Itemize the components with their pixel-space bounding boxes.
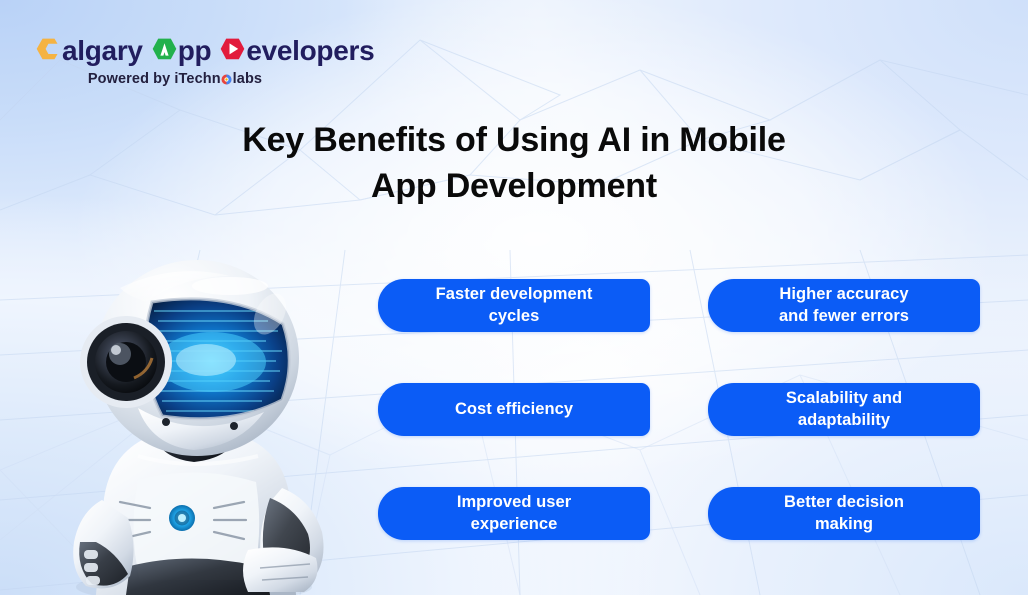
benefit-label-line-1: Higher accuracy — [779, 285, 908, 303]
robot-right-hand — [243, 547, 318, 592]
robot-lens-housing — [80, 316, 172, 408]
benefit-chip-higher-accuracy-fewer-errors[interactable]: Higher accuracy and fewer errors — [708, 279, 980, 332]
benefit-chip-better-decision-making[interactable]: Better decision making — [708, 487, 980, 540]
benefit-chip-scalability-adaptability[interactable]: Scalability and adaptability — [708, 383, 980, 436]
benefit-chip-faster-development-cycles[interactable]: Faster development cycles — [378, 279, 650, 332]
benefit-label: Higher accuracy and fewer errors — [779, 284, 909, 327]
hex-c-icon — [36, 36, 61, 65]
benefit-label-line-2: making — [815, 515, 873, 533]
benefits-grid: Faster development cycles Higher accurac… — [378, 279, 986, 554]
benefit-label: Faster development cycles — [436, 284, 593, 327]
benefit-label: Improved user experience — [457, 492, 571, 535]
robot-visor — [145, 299, 289, 419]
robot-visor-data-pattern — [150, 310, 282, 412]
benefit-chip-improved-user-experience[interactable]: Improved user experience — [378, 487, 650, 540]
benefit-label: Cost efficiency — [455, 399, 573, 420]
benefit-label-line-1: Cost efficiency — [455, 400, 573, 418]
benefit-chip-cost-efficiency[interactable]: Cost efficiency — [378, 383, 650, 436]
ai-robot-illustration — [34, 250, 344, 595]
page-title: Key Benefits of Using AI in Mobile App D… — [190, 118, 838, 210]
benefit-label: Scalability and adaptability — [786, 388, 902, 431]
benefit-label-line-1: Faster development — [436, 285, 593, 303]
logo-tagline: Powered by iTechn labs — [36, 72, 314, 87]
robot-head — [95, 260, 299, 456]
page-title-line-2: App Development — [371, 167, 657, 205]
benefit-label-line-2: and fewer errors — [779, 307, 909, 325]
page-title-line-1: Key Benefits of Using AI in Mobile — [242, 121, 786, 159]
logo-text-calgary: algary — [62, 37, 143, 65]
robot-right-arm — [260, 488, 323, 585]
logo-wordmark: algary pp evelopers — [36, 36, 374, 65]
benefit-label: Better decision making — [784, 492, 904, 535]
globe-icon — [221, 74, 232, 85]
logo-text-app: pp — [178, 37, 212, 65]
infographic-canvas: algary pp evelopers Powered by iTechn — [0, 0, 1028, 595]
robot-torso — [96, 432, 296, 595]
tagline-prefix: Powered by iTechn — [88, 72, 221, 87]
logo-text-developers: evelopers — [246, 37, 374, 65]
brand-logo[interactable]: algary pp evelopers Powered by iTechn — [36, 36, 374, 87]
robot-camera-lens — [95, 331, 157, 393]
benefit-label-line-1: Improved user — [457, 493, 571, 511]
robot-left-arm — [73, 500, 133, 588]
benefit-label-line-2: cycles — [489, 307, 540, 325]
benefit-label-line-1: Better decision — [784, 493, 904, 511]
hex-a-icon — [152, 36, 177, 65]
hex-d-icon — [220, 36, 245, 65]
benefit-label-line-2: adaptability — [798, 411, 890, 429]
benefit-label-line-2: experience — [471, 515, 558, 533]
robot-chest-indicator — [169, 505, 195, 531]
tagline-suffix: labs — [233, 72, 262, 87]
benefit-label-line-1: Scalability and — [786, 389, 902, 407]
